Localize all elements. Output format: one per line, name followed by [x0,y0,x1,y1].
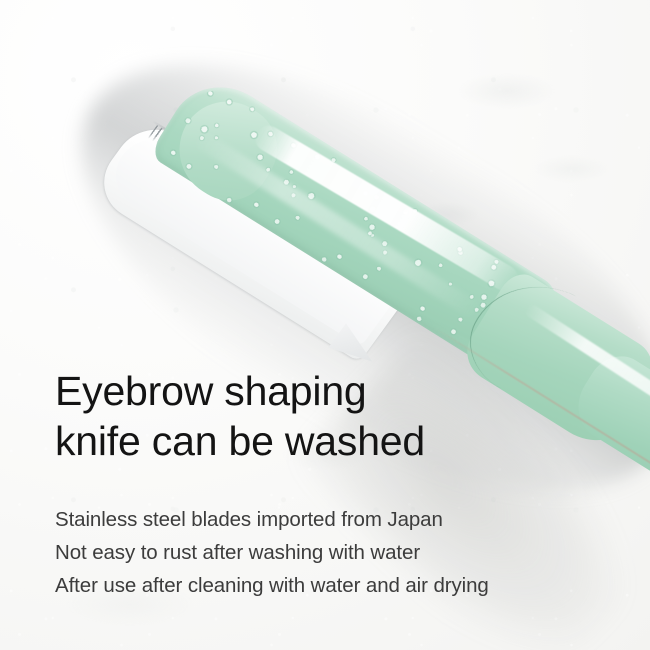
marketing-copy: Eyebrow shaping knife can be washed Stai… [55,366,615,603]
feature-item: Stainless steel blades imported from Jap… [55,503,615,536]
headline: Eyebrow shaping knife can be washed [55,366,615,466]
feature-list: Stainless steel blades imported from Jap… [55,503,615,603]
feature-item: Not easy to rust after washing with wate… [55,536,615,569]
headline-line-2: knife can be washed [55,416,615,466]
headline-line-1: Eyebrow shaping [55,366,615,416]
product-image-canvas: Eyebrow shaping knife can be washed Stai… [0,0,650,650]
feature-item: After use after cleaning with water and … [55,569,615,602]
